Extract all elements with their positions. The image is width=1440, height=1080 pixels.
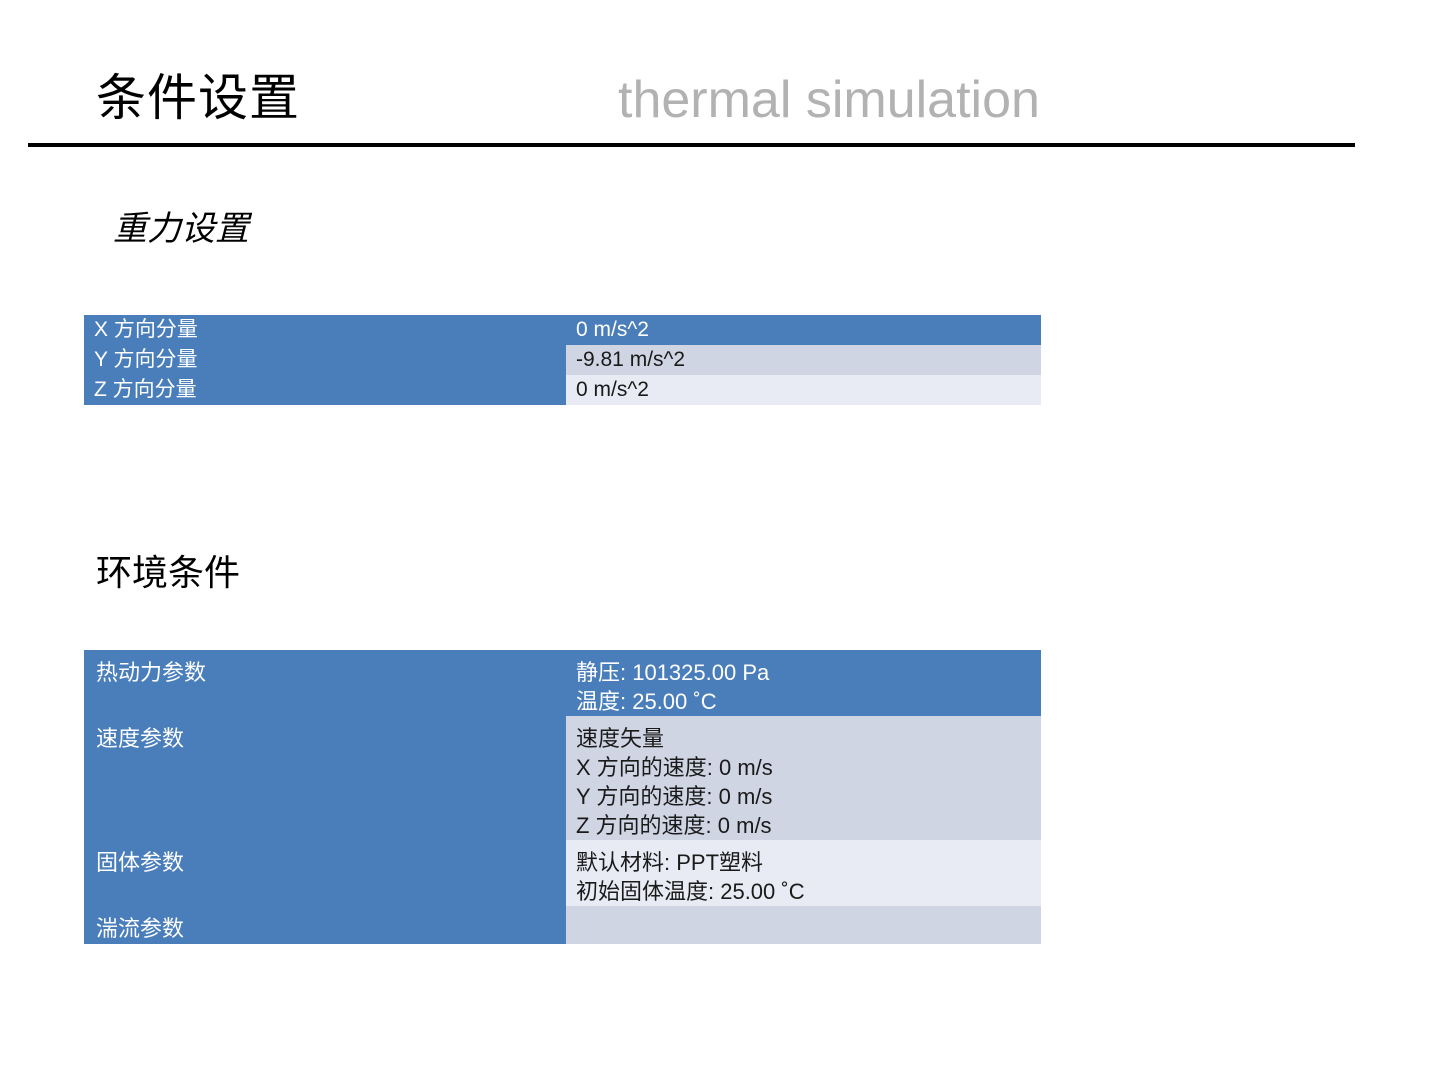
- table-row: 固体参数 默认材料: PPT塑料 初始固体温度: 25.00 ˚C: [84, 840, 1041, 906]
- ambient-row-value-velocity: 速度矢量 X 方向的速度: 0 m/s Y 方向的速度: 0 m/s Z 方向的…: [566, 716, 1041, 840]
- table-row: 湍流参数: [84, 906, 1041, 944]
- table-row: Y 方向分量 -9.81 m/s^2: [84, 345, 1041, 375]
- gravity-row-label-z: Z 方向分量: [84, 375, 566, 405]
- gravity-row-value-y: -9.81 m/s^2: [566, 345, 1041, 375]
- ambient-row-value-solid: 默认材料: PPT塑料 初始固体温度: 25.00 ˚C: [566, 840, 1041, 906]
- gravity-row-label-x: X 方向分量: [84, 315, 566, 345]
- ambient-conditions-table: 热动力参数 静压: 101325.00 Pa 温度: 25.00 ˚C 速度参数…: [84, 650, 1041, 944]
- value-line: 静压: 101325.00 Pa: [576, 658, 1041, 687]
- section-heading-ambient: 环境条件: [96, 550, 240, 598]
- gravity-settings-table: X 方向分量 0 m/s^2 Y 方向分量 -9.81 m/s^2 Z 方向分量…: [84, 315, 1041, 405]
- header-divider: [28, 143, 1355, 147]
- table-row: Z 方向分量 0 m/s^2: [84, 375, 1041, 405]
- table-row: 速度参数 速度矢量 X 方向的速度: 0 m/s Y 方向的速度: 0 m/s …: [84, 716, 1041, 840]
- value-line: 速度矢量: [576, 724, 1041, 753]
- gravity-row-value-z: 0 m/s^2: [566, 375, 1041, 405]
- ambient-row-label-thermodynamic: 热动力参数: [84, 650, 566, 716]
- value-line: 温度: 25.00 ˚C: [576, 687, 1041, 716]
- ambient-row-value-turbulence: [566, 906, 1041, 944]
- ambient-row-label-velocity: 速度参数: [84, 716, 566, 840]
- ambient-row-label-turbulence: 湍流参数: [84, 906, 566, 944]
- value-line: 默认材料: PPT塑料: [576, 848, 1041, 877]
- page-title: 条件设置: [96, 66, 300, 130]
- gravity-row-label-y: Y 方向分量: [84, 345, 566, 375]
- value-line: X 方向的速度: 0 m/s: [576, 753, 1041, 782]
- value-line: [576, 914, 1041, 915]
- value-line: 初始固体温度: 25.00 ˚C: [576, 877, 1041, 906]
- table-row: 热动力参数 静压: 101325.00 Pa 温度: 25.00 ˚C: [84, 650, 1041, 716]
- ambient-row-value-thermodynamic: 静压: 101325.00 Pa 温度: 25.00 ˚C: [566, 650, 1041, 716]
- section-heading-gravity: 重力设置: [113, 206, 249, 252]
- slide-header: 条件设置 thermal simulation: [0, 0, 1440, 150]
- value-line: Y 方向的速度: 0 m/s: [576, 782, 1041, 811]
- value-line: Z 方向的速度: 0 m/s: [576, 811, 1041, 840]
- gravity-row-value-x: 0 m/s^2: [566, 315, 1041, 345]
- page-subtitle: thermal simulation: [618, 70, 1040, 130]
- table-row: X 方向分量 0 m/s^2: [84, 315, 1041, 345]
- ambient-row-label-solid: 固体参数: [84, 840, 566, 906]
